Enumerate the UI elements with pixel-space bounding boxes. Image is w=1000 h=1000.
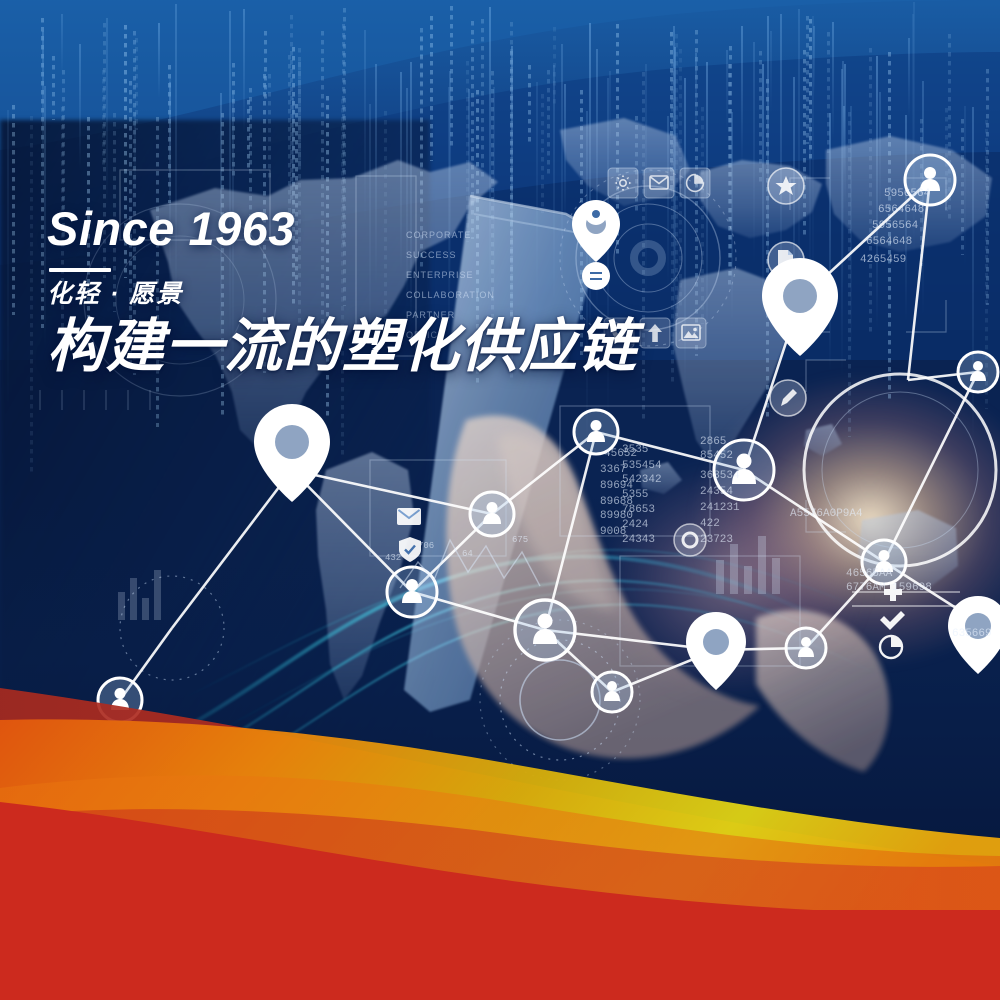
svg-text:89980: 89980 — [600, 510, 633, 522]
svg-text:46565AA: 46565AA — [846, 568, 893, 580]
svg-text:3367: 3367 — [600, 464, 626, 476]
svg-text:535454: 535454 — [622, 460, 662, 472]
svg-text:23723: 23723 — [700, 534, 733, 546]
svg-text:6564648: 6564648 — [878, 204, 924, 216]
svg-text:A5576A0P9A4: A5576A0P9A4 — [790, 508, 863, 520]
svg-text:6776AM 159698: 6776AM 159698 — [846, 582, 932, 594]
svg-text:24343: 24343 — [622, 534, 655, 546]
svg-text:6564648: 6564648 — [866, 236, 912, 248]
svg-text:2865: 2865 — [700, 436, 726, 448]
svg-text:24354: 24354 — [700, 486, 733, 498]
wave-decoration — [0, 670, 1000, 1000]
svg-text:432: 432 — [385, 553, 401, 563]
svg-text:241231: 241231 — [700, 502, 740, 514]
svg-text:45652: 45652 — [604, 448, 637, 460]
svg-text:4265459: 4265459 — [860, 254, 906, 266]
user-node — [786, 628, 826, 668]
envelope-icon — [397, 508, 421, 525]
svg-text:85452: 85452 — [700, 450, 733, 462]
check-icon — [880, 611, 905, 630]
svg-text:363534: 363534 — [700, 470, 740, 482]
svg-text:5956564: 5956564 — [884, 188, 931, 200]
subtitle-text: 化轻 · 愿景 — [47, 281, 667, 309]
divider-rule — [49, 268, 111, 272]
headline-block: Since 1963 化轻 · 愿景 构建一流的塑化供应链 — [47, 205, 667, 377]
svg-text:635669: 635669 — [952, 628, 992, 640]
location-pin-icon — [254, 404, 330, 502]
svg-text:675: 675 — [512, 535, 528, 545]
marketing-banner: CORPORATE SUCCESS ENTERPRISE COLLABORATI… — [0, 0, 1000, 1000]
svg-text:9008: 9008 — [600, 526, 626, 538]
user-node — [515, 600, 575, 660]
svg-text:706: 706 — [418, 541, 434, 551]
page-title: 构建一流的塑化供应链 — [47, 317, 667, 378]
svg-text:5956564: 5956564 — [872, 220, 919, 232]
eyebrow-text: Since 1963 — [47, 205, 667, 252]
svg-text:422: 422 — [700, 518, 720, 530]
svg-text:89688: 89688 — [600, 496, 633, 508]
svg-text:89694: 89694 — [600, 480, 633, 492]
svg-text:64: 64 — [462, 549, 473, 559]
